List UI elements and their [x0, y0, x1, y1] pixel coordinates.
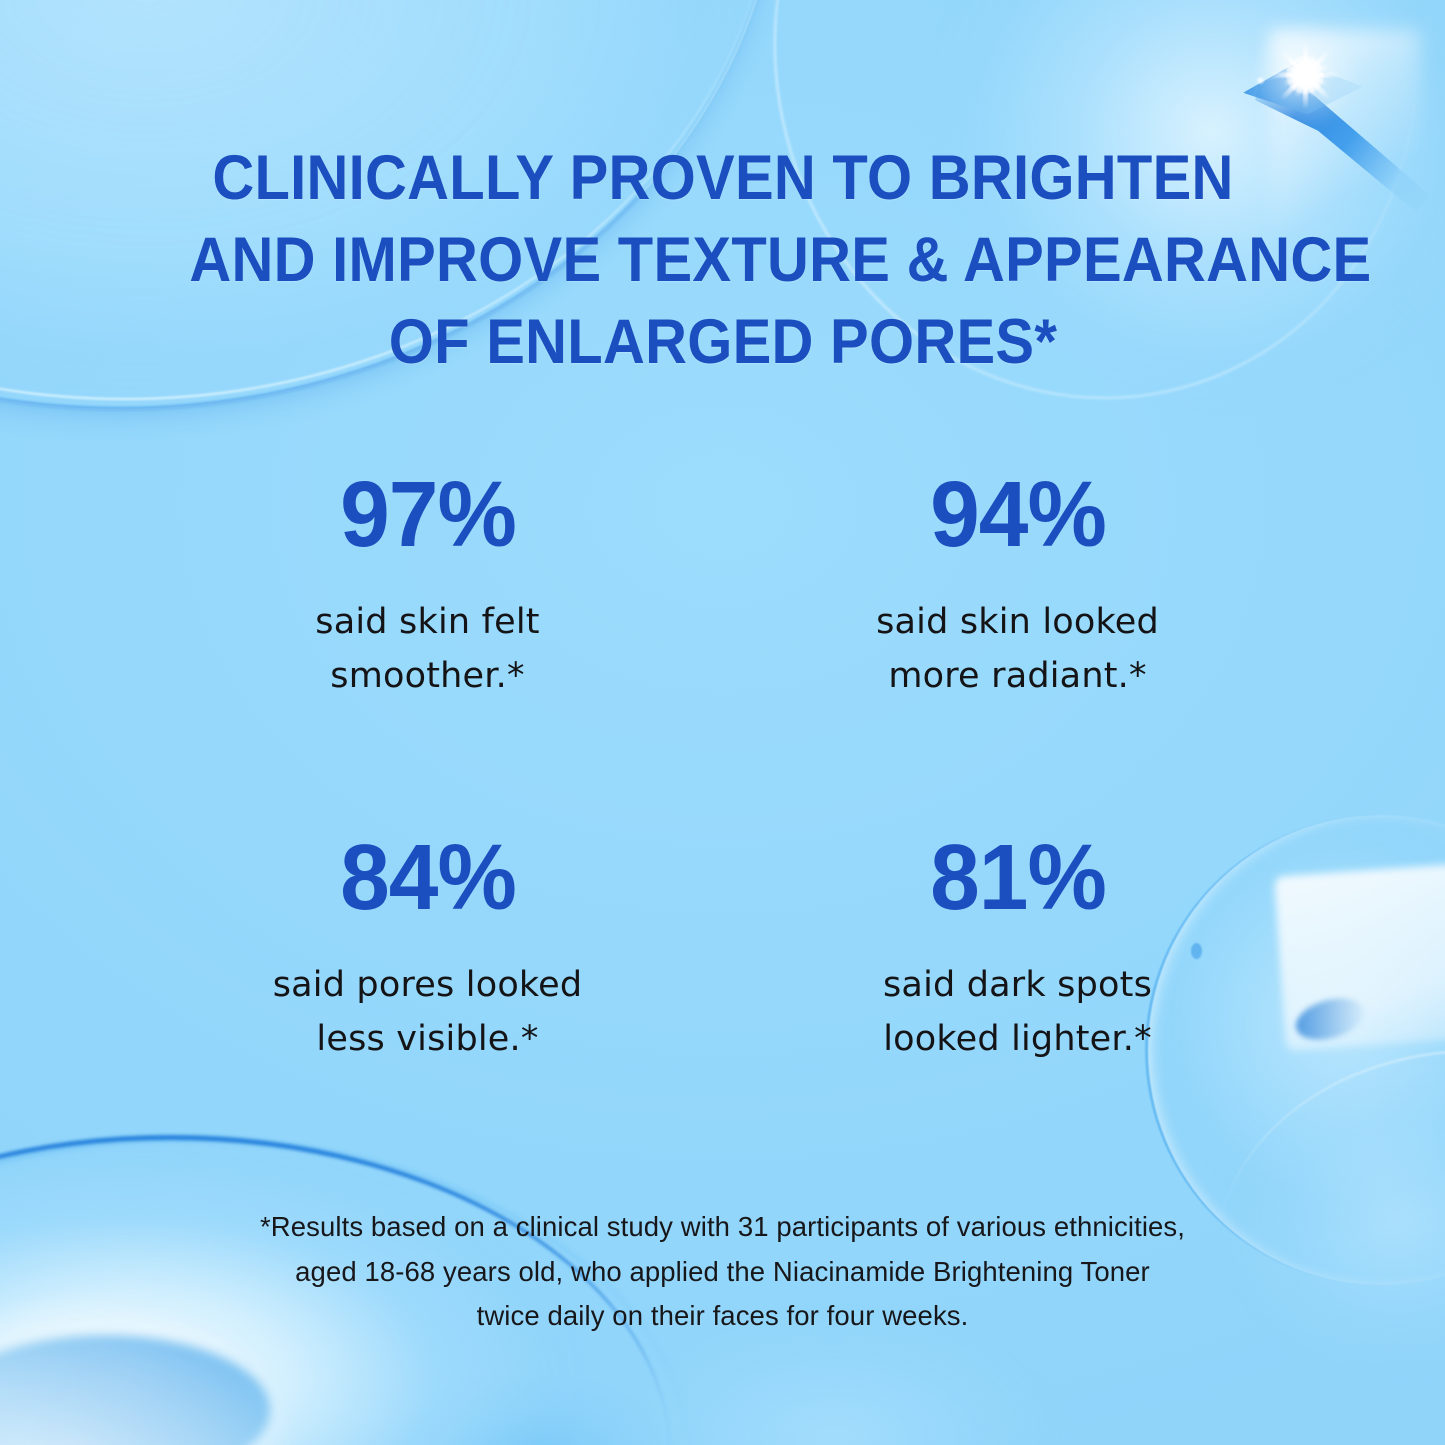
- stat-value-4: 81%: [734, 831, 1300, 924]
- stats-grid: 97% said skin felt smoother.* 94% said s…: [133, 468, 1313, 1067]
- stat-description-1-line-1: said skin felt: [133, 595, 723, 649]
- headline-line-3: OF ENLARGED PORES*: [189, 302, 1256, 384]
- headline-line-1: CLINICALLY PROVEN TO BRIGHTEN: [189, 138, 1256, 220]
- footnote-line-1: *Results based on a clinical study with …: [0, 1205, 1445, 1250]
- infographic-canvas: CLINICALLY PROVEN TO BRIGHTEN AND IMPROV…: [0, 0, 1445, 1445]
- stat-description-1: said skin felt smoother.*: [133, 595, 723, 704]
- stat-description-1-line-2: smoother.*: [133, 649, 723, 703]
- stat-description-4: said dark spots looked lighter.*: [723, 958, 1313, 1067]
- stat-description-4-line-2: looked lighter.*: [723, 1012, 1313, 1066]
- headline: CLINICALLY PROVEN TO BRIGHTEN AND IMPROV…: [189, 138, 1256, 384]
- stat-description-3: said pores looked less visible.*: [133, 958, 723, 1067]
- stat-block-1: 97% said skin felt smoother.*: [133, 468, 723, 704]
- stat-description-3-line-1: said pores looked: [133, 958, 723, 1012]
- stat-description-2: said skin looked more radiant.*: [723, 595, 1313, 704]
- stat-value-1: 97%: [144, 468, 710, 561]
- stat-description-3-line-2: less visible.*: [133, 1012, 723, 1066]
- footnote-disclaimer: *Results based on a clinical study with …: [0, 1205, 1445, 1339]
- footnote-line-3: twice daily on their faces for four week…: [0, 1294, 1445, 1339]
- stat-value-2: 94%: [734, 468, 1300, 561]
- stat-description-4-line-1: said dark spots: [723, 958, 1313, 1012]
- footnote-line-2: aged 18-68 years old, who applied the Ni…: [0, 1250, 1445, 1295]
- stat-block-4: 81% said dark spots looked lighter.*: [723, 831, 1313, 1067]
- content-layer: CLINICALLY PROVEN TO BRIGHTEN AND IMPROV…: [0, 0, 1445, 1445]
- stat-block-2: 94% said skin looked more radiant.*: [723, 468, 1313, 704]
- stat-block-3: 84% said pores looked less visible.*: [133, 831, 723, 1067]
- stat-description-2-line-1: said skin looked: [723, 595, 1313, 649]
- headline-line-2: AND IMPROVE TEXTURE & APPEARANCE: [189, 220, 1256, 302]
- stat-value-3: 84%: [144, 831, 710, 924]
- stat-description-2-line-2: more radiant.*: [723, 649, 1313, 703]
